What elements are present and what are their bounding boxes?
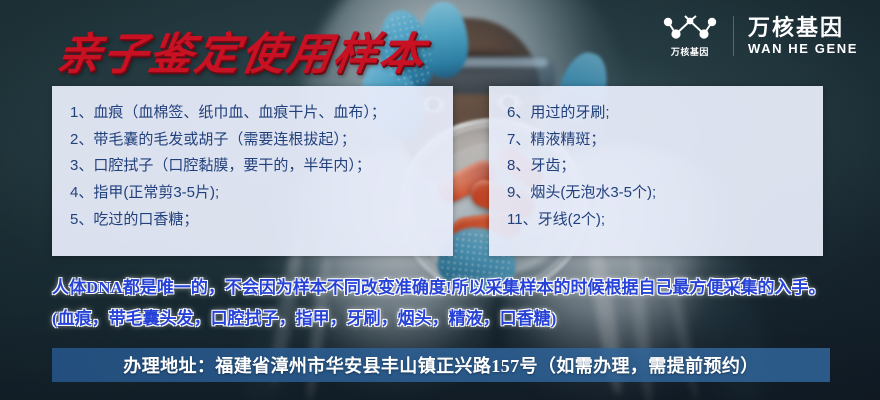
page-title: 亲子鉴定使用样本: [53, 18, 431, 82]
logo-mark-subtitle: 万核基因: [671, 45, 709, 58]
list-item: 1、血痕（血棉签、纸巾血、血痕干片、血布）；: [70, 100, 439, 127]
sample-list-right: 6、用过的牙刷; 7、精液精斑； 8、牙齿； 9、烟头(无泡水3-5个); 11…: [507, 100, 809, 233]
address-text: 办理地址：福建省漳州市华安县丰山镇正兴路157号（如需办理，需提前预约）: [123, 352, 758, 378]
sample-list-panel-right: 6、用过的牙刷; 7、精液精斑； 8、牙齿； 9、烟头(无泡水3-5个); 11…: [489, 86, 823, 256]
logo-divider: [733, 16, 734, 56]
list-item: 9、烟头(无泡水3-5个);: [507, 180, 809, 207]
logo-name-en: WAN HE GENE: [748, 41, 858, 56]
address-bar: 办理地址：福建省漳州市华安县丰山镇正兴路157号（如需办理，需提前预约）: [52, 348, 830, 382]
list-item: 3、口腔拭子（口腔黏膜，要干的，半年内）；: [70, 153, 439, 180]
list-item: 4、指甲(正常剪3-5片);: [70, 180, 439, 207]
poster-root: 亲子鉴定使用样本: [0, 0, 880, 400]
list-item: 7、精液精斑；: [507, 127, 809, 154]
logo-wordmark: 万核基因 WAN HE GENE: [748, 16, 858, 56]
sample-list-left: 1、血痕（血棉签、纸巾血、血痕干片、血布）； 2、带毛囊的毛发或胡子（需要连根拔…: [70, 100, 439, 233]
brand-logo: 万核基因 万核基因 WAN HE GENE: [661, 14, 858, 58]
logo-mark: 万核基因: [661, 14, 719, 58]
list-item: 6、用过的牙刷;: [507, 100, 809, 127]
list-item: 5、吃过的口香糖；: [70, 207, 439, 234]
molecule-icon: [661, 14, 719, 42]
list-item: 8、牙齿；: [507, 153, 809, 180]
notice-paragraph: 人体DNA都是唯一的，不会因为样本不同改变准确度!所以采集样本的时候根据自己最方…: [52, 272, 842, 335]
list-item: 2、带毛囊的毛发或胡子（需要连根拔起）；: [70, 127, 439, 154]
sample-list-panel-left: 1、血痕（血棉签、纸巾血、血痕干片、血布）； 2、带毛囊的毛发或胡子（需要连根拔…: [52, 86, 453, 256]
logo-name-cn: 万核基因: [748, 16, 844, 39]
list-item: 11、牙线(2个);: [507, 207, 809, 234]
